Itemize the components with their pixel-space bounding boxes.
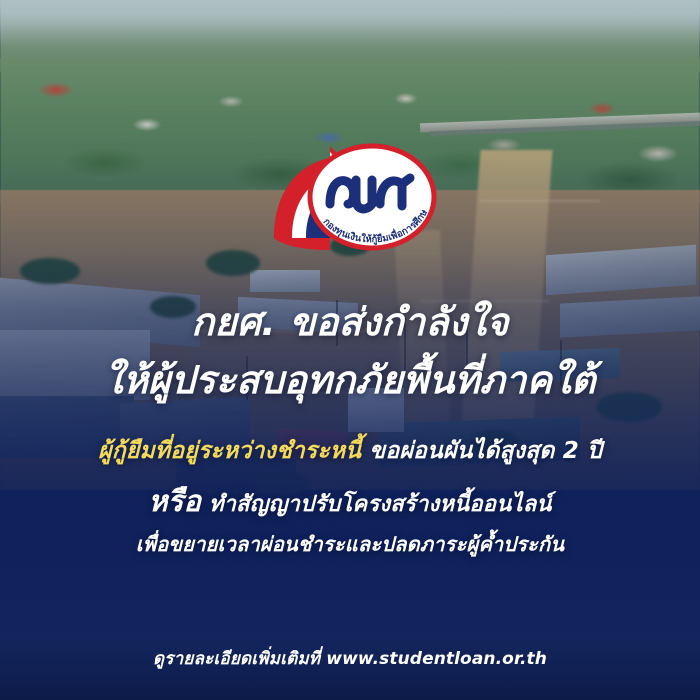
flood-support-poster: กองทุนเงินให้กู้ยืมเพื่อการศึกษา กยศ. ขอ… [0,0,700,700]
message-block: กยศ. ขอส่งกำลังใจ ให้ผู้ประสบอุทกภัยพื้น… [0,296,700,560]
headline-line-1: กยศ. ขอส่งกำลังใจ [0,296,700,348]
body-line-4: หรือ ทำสัญญาปรับโครงสร้างหนี้ออนไลน์ [0,484,700,522]
gyos-logo: กองทุนเงินให้กู้ยืมเพื่อการศึกษา [268,142,440,252]
footer-prefix: ดูรายละเอียดเพิ่มเติมที่ [153,649,320,669]
body-line-4-lead: หรือ [148,484,201,518]
body-line-3-rest: ขอผ่อนผันได้สูงสุด 2 ปี [369,438,602,464]
body-line-5: เพื่อขยายเวลาผ่อนชำระและปลดภาระผู้ค้ำประ… [0,528,700,560]
footer-cta: ดูรายละเอียดเพิ่มเติมที่ www.studentloan… [0,646,700,672]
body-line-3: ผู้กู้ยืมที่อยู่ระหว่างชำระหนี้ ขอผ่อนผั… [0,434,700,468]
body-line-3-highlight: ผู้กู้ยืมที่อยู่ระหว่างชำระหนี้ [98,438,361,464]
footer-website-url[interactable]: www.studentloan.or.th [326,649,547,669]
body-line-4-rest: ทำสัญญาปรับโครงสร้างหนี้ออนไลน์ [209,492,552,517]
headline-line-2: ให้ผู้ประสบอุทกภัยพื้นที่ภาคใต้ [0,354,700,406]
